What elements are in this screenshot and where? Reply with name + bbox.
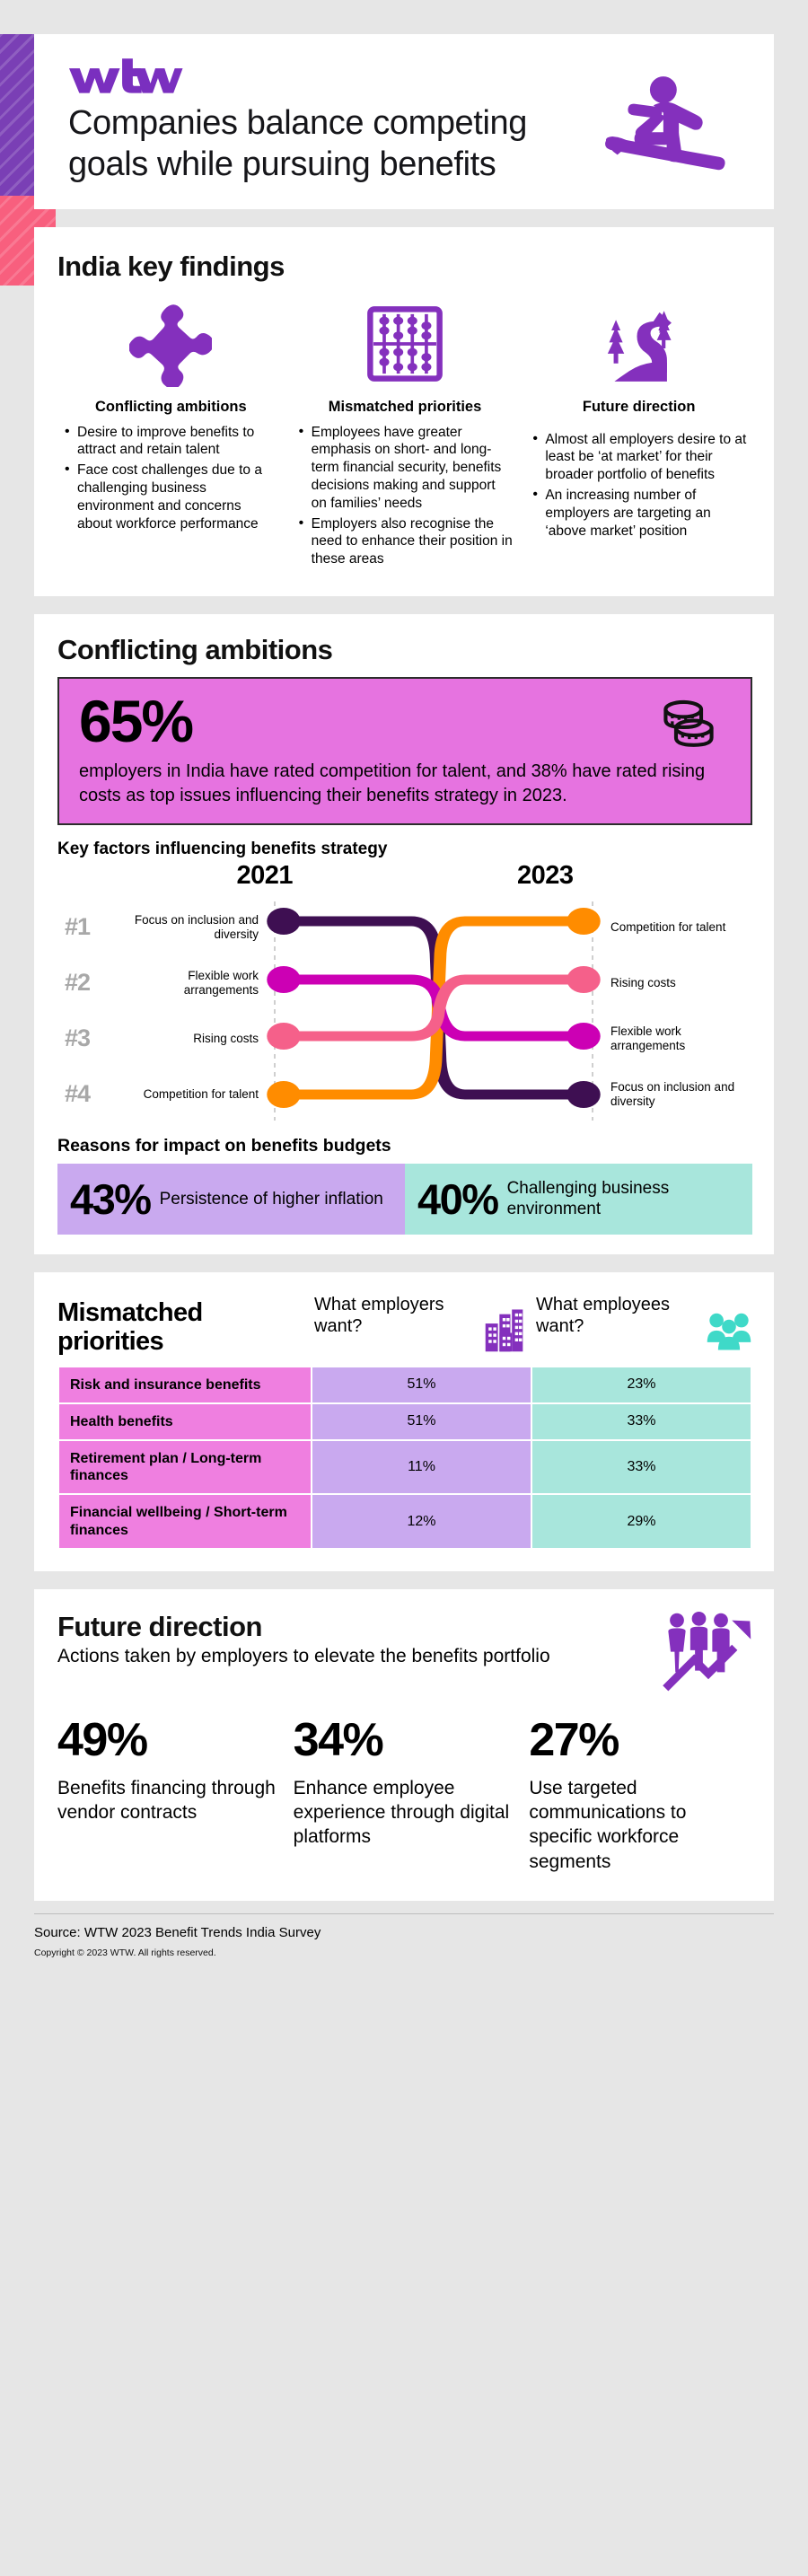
rank-column: #1 #2 #3 #4: [57, 892, 115, 1127]
findings-heading: India key findings: [57, 251, 752, 283]
cell-employers: 51%: [312, 1367, 531, 1402]
puzzle-piece-icon: [129, 301, 212, 387]
future-heading: Future direction: [57, 1611, 550, 1643]
table-row: Retirement plan / Long-term finances 11%…: [59, 1441, 751, 1493]
infographic-page: Companies balance competing goals while …: [0, 34, 808, 2576]
conflicting-heading: Conflicting ambitions: [57, 634, 752, 666]
reasons-heading: Reasons for impact on benefits budgets: [57, 1136, 752, 1156]
cell-employees: 33%: [532, 1441, 751, 1493]
series-label-left: Rising costs: [115, 1011, 259, 1067]
cell-employees: 23%: [532, 1367, 751, 1402]
winding-road-icon: [598, 301, 681, 387]
table-row: Risk and insurance benefits 51% 23%: [59, 1367, 751, 1402]
reason-value: 40%: [417, 1178, 498, 1220]
finding-column-conflicting-ambitions: Conflicting ambitions Desire to improve …: [57, 297, 285, 571]
list-item: An increasing number of employers are ta…: [531, 487, 747, 540]
finding-column-mismatched-priorities: Mismatched priorities Employees have gre…: [292, 297, 519, 571]
india-key-findings-panel: India key findings Conflicting ambitions…: [34, 227, 774, 596]
footer: Source: WTW 2023 Benefit Trends India Su…: [0, 1901, 808, 1978]
table-row: Health benefits 51% 33%: [59, 1404, 751, 1439]
series-label-right: Flexible work arrangements: [610, 1011, 752, 1067]
future-value: 49%: [57, 1717, 281, 1763]
future-item-benefits-financing: 49% Benefits financing through vendor co…: [57, 1717, 281, 1874]
list-item: Almost all employers desire to at least …: [531, 431, 747, 484]
coins-icon: [659, 693, 718, 752]
people-growth-arrow-icon: [658, 1611, 752, 1693]
reason-card-business-environment: 40% Challenging business environment: [405, 1164, 752, 1235]
finding-title: Conflicting ambitions: [63, 398, 279, 417]
column-header-label: What employees want?: [536, 1294, 702, 1337]
rank-label: #1: [57, 900, 115, 955]
hero-panel: Companies balance competing goals while …: [34, 34, 774, 209]
slope-chart-title: Key factors influencing benefits strateg…: [57, 840, 752, 859]
page-title: Companies balance competing goals while …: [68, 102, 594, 186]
column-header-label: What employers want?: [314, 1294, 480, 1337]
rank-label: #4: [57, 1067, 115, 1122]
row-label: Retirement plan / Long-term finances: [59, 1441, 311, 1493]
reason-label: Challenging business environment: [507, 1178, 742, 1219]
future-item-targeted-communications: 27% Use targeted communications to speci…: [529, 1717, 752, 1874]
surfer-icon: [594, 70, 738, 176]
series-label-left: Focus on inclusion and diversity: [115, 900, 259, 955]
source-text: Source: WTW 2023 Benefit Trends India Su…: [34, 1925, 774, 1940]
wtw-logo: [68, 54, 183, 95]
finding-bullet-list: Almost all employers desire to at least …: [531, 431, 747, 541]
slope-chart-plot: [266, 892, 602, 1127]
axis-label-2021: 2021: [236, 861, 293, 891]
people-group-icon: [706, 1306, 752, 1353]
future-label: Use targeted communications to specific …: [529, 1776, 752, 1874]
mismatched-heading: Mismatched priorities: [57, 1294, 309, 1357]
conflicting-ambitions-panel: Conflicting ambitions 65% employers in I…: [34, 614, 774, 1254]
row-label: Risk and insurance benefits: [59, 1367, 311, 1402]
list-item: Face cost challenges due to a challengin…: [63, 462, 279, 532]
future-value: 27%: [529, 1717, 752, 1763]
future-label: Enhance employee experience through digi…: [294, 1776, 517, 1850]
slope-right-labels: Competition for talent Rising costs Flex…: [602, 892, 752, 1127]
stat-description: employers in India have rated competitio…: [79, 760, 707, 807]
series-label-right: Focus on inclusion and diversity: [610, 1067, 752, 1122]
slope-left-labels: Focus on inclusion and diversity Flexibl…: [115, 892, 266, 1127]
cell-employers: 51%: [312, 1404, 531, 1439]
future-subheading: Actions taken by employers to elevate th…: [57, 1645, 550, 1668]
office-buildings-icon: [484, 1306, 531, 1353]
cell-employees: 29%: [532, 1495, 751, 1547]
list-item: Employees have greater emphasis on short…: [297, 424, 514, 513]
reason-label: Persistence of higher inflation: [160, 1189, 383, 1209]
stat-number: 65%: [79, 691, 733, 751]
reason-value: 43%: [70, 1178, 151, 1220]
row-label: Financial wellbeing / Short-term finance…: [59, 1495, 311, 1547]
finding-title: Mismatched priorities: [297, 398, 514, 417]
list-item: Employers also recognise the need to enh…: [297, 515, 514, 568]
series-label-right: Competition for talent: [610, 900, 752, 955]
future-item-employee-experience: 34% Enhance employee experience through …: [294, 1717, 517, 1874]
cell-employers: 12%: [312, 1495, 531, 1547]
slope-chart: 2021 2023 #1 #2 #3 #4 Focus on inclusion…: [57, 861, 752, 1127]
future-value: 34%: [294, 1717, 517, 1763]
priorities-table: Risk and insurance benefits 51% 23% Heal…: [57, 1366, 752, 1550]
cell-employees: 33%: [532, 1404, 751, 1439]
axis-label-2023: 2023: [517, 861, 574, 891]
row-label: Health benefits: [59, 1404, 311, 1439]
table-row: Financial wellbeing / Short-term finance…: [59, 1495, 751, 1547]
column-header-employers: What employers want?: [309, 1294, 531, 1353]
rank-label: #2: [57, 955, 115, 1011]
copyright-text: Copyright © 2023 WTW. All rights reserve…: [34, 1947, 774, 1958]
footer-divider: [34, 1913, 774, 1914]
future-label: Benefits financing through vendor contra…: [57, 1776, 281, 1825]
abacus-icon: [364, 301, 446, 387]
reason-card-inflation: 43% Persistence of higher inflation: [57, 1164, 405, 1235]
cell-employers: 11%: [312, 1441, 531, 1493]
finding-bullet-list: Desire to improve benefits to attract an…: [63, 424, 279, 533]
finding-column-future-direction: Future direction Almost all employers de…: [525, 297, 752, 571]
stat-callout-box: 65% employers in India have rated compet…: [57, 677, 752, 825]
rank-label: #3: [57, 1011, 115, 1067]
series-label-right: Rising costs: [610, 955, 752, 1011]
finding-title: Future direction: [531, 398, 747, 417]
column-header-employees: What employees want?: [531, 1294, 752, 1353]
series-label-left: Competition for talent: [115, 1067, 259, 1122]
mismatched-priorities-panel: Mismatched priorities What employers wan…: [34, 1272, 774, 1571]
list-item: Desire to improve benefits to attract an…: [63, 424, 279, 460]
finding-bullet-list: Employees have greater emphasis on short…: [297, 424, 514, 569]
series-label-left: Flexible work arrangements: [115, 955, 259, 1011]
future-direction-panel: Future direction Actions taken by employ…: [34, 1589, 774, 1901]
slope-chart-svg: [266, 900, 602, 1122]
